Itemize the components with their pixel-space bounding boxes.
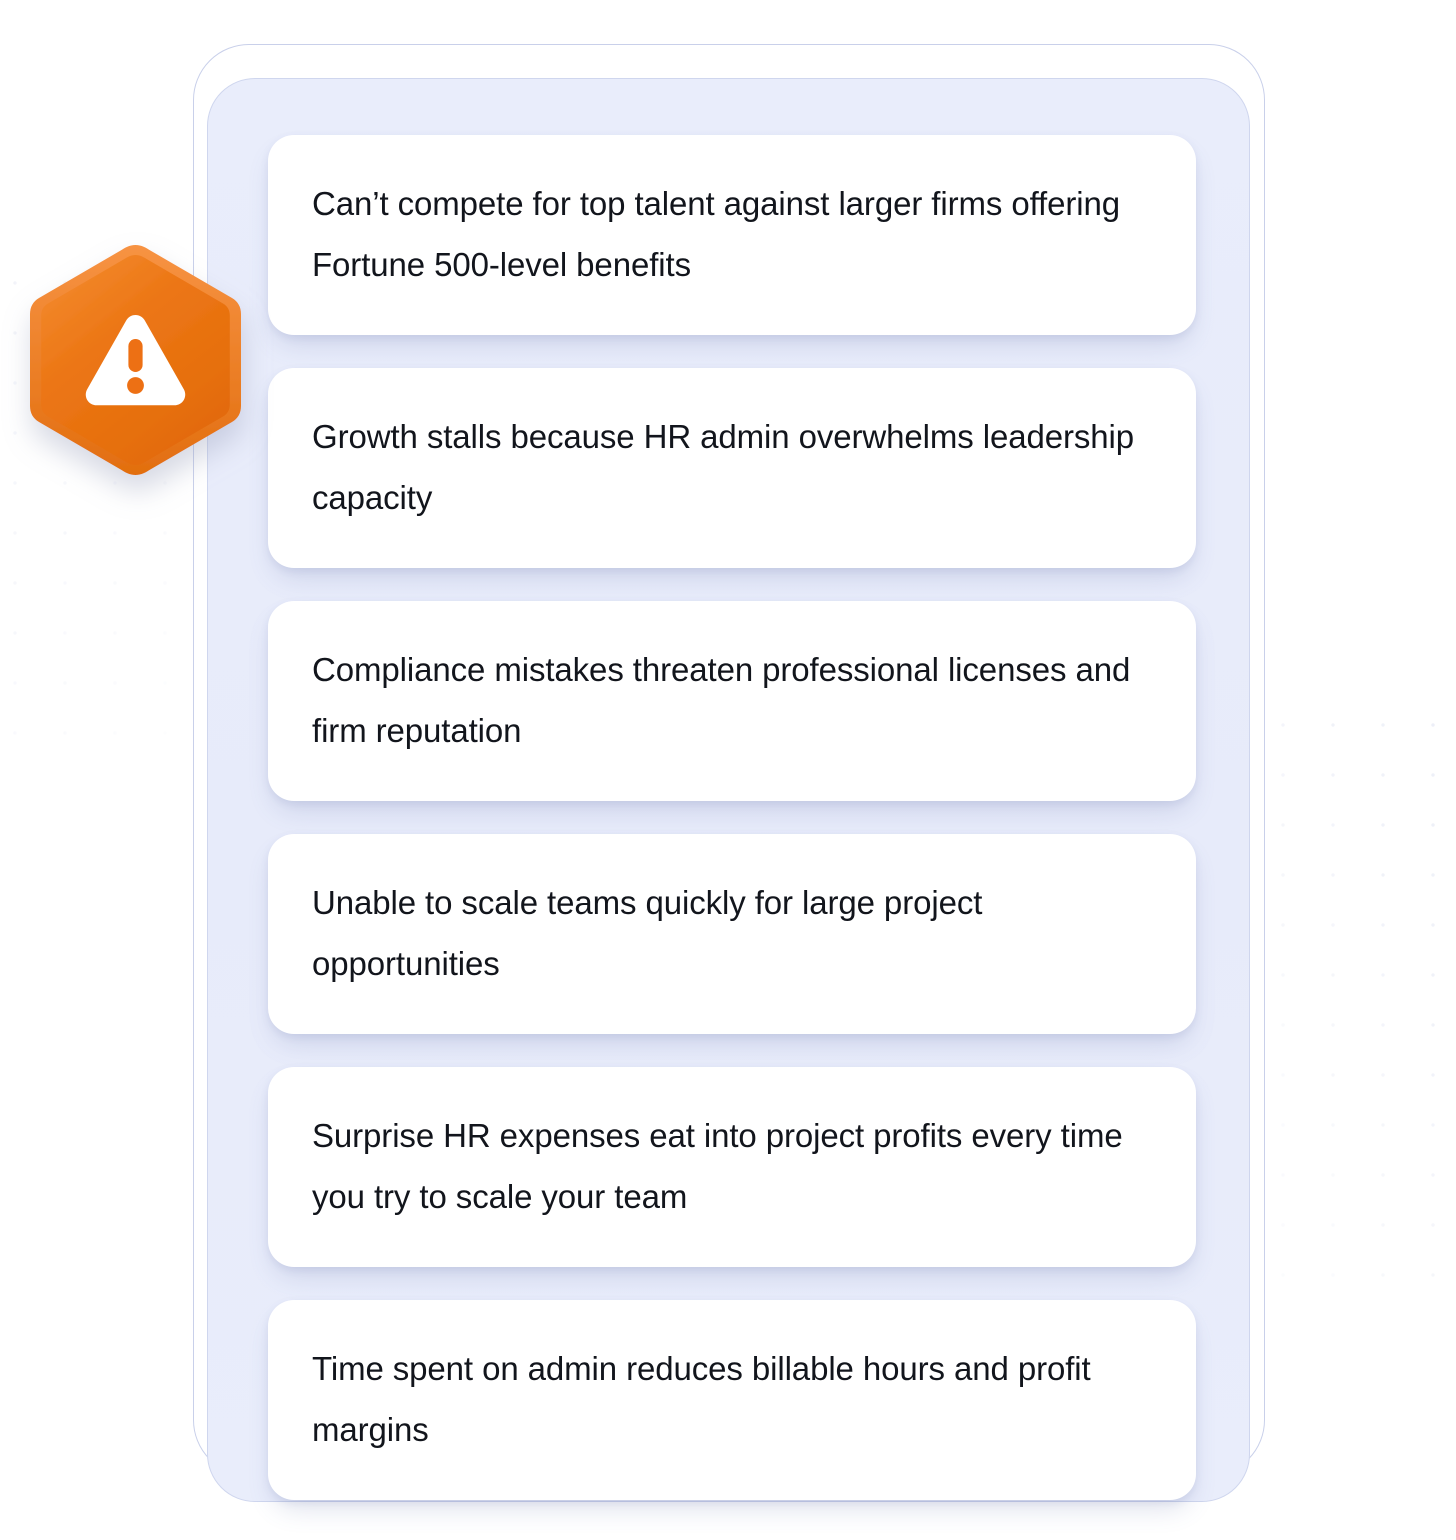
issue-card-text: Surprise HR expenses eat into project pr…: [312, 1105, 1152, 1227]
issue-card-text: Unable to scale teams quickly for large …: [312, 872, 1152, 994]
issue-card-team-scaling[interactable]: Unable to scale teams quickly for large …: [268, 834, 1196, 1034]
warning-hexagon-badge: [25, 243, 246, 477]
issue-card-text: Time spent on admin reduces billable hou…: [312, 1338, 1152, 1460]
issue-card-growth-stalls[interactable]: Growth stalls because HR admin overwhelm…: [268, 368, 1196, 568]
dot-grid-right: [1258, 700, 1456, 1320]
issue-card-surprise-hr-costs[interactable]: Surprise HR expenses eat into project pr…: [268, 1067, 1196, 1267]
issue-card-text: Can’t compete for top talent against lar…: [312, 173, 1152, 295]
issue-card-text: Compliance mistakes threaten professiona…: [312, 639, 1152, 761]
issue-card-list: Can’t compete for top talent against lar…: [268, 135, 1196, 1500]
issue-card-talent-competition[interactable]: Can’t compete for top talent against lar…: [268, 135, 1196, 335]
issue-card-compliance-mistakes[interactable]: Compliance mistakes threaten professiona…: [268, 601, 1196, 801]
issue-card-billable-hours[interactable]: Time spent on admin reduces billable hou…: [268, 1300, 1196, 1500]
issue-card-text: Growth stalls because HR admin overwhelm…: [312, 406, 1152, 528]
